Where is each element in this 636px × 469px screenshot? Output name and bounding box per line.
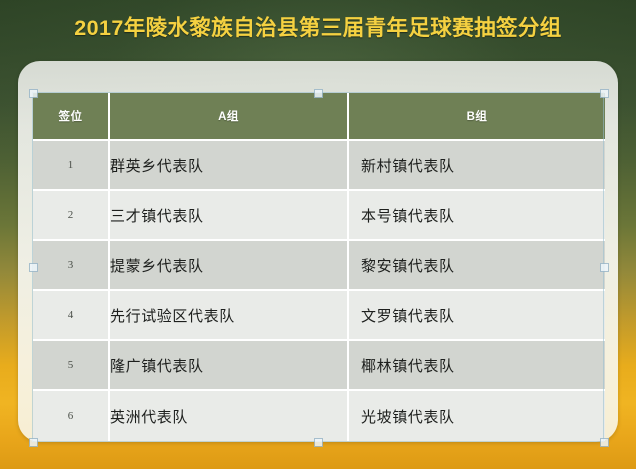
cell-group-b: 文罗镇代表队 (349, 291, 605, 341)
column-header-group-b: B组 (349, 93, 605, 141)
cell-group-a: 英洲代表队 (110, 391, 349, 441)
table-header-row: 签位 A组 B组 (33, 93, 605, 141)
cell-seat: 5 (33, 341, 110, 391)
slide-title-bar: 2017年陵水黎族自治县第三届青年足球赛抽签分组 (0, 11, 636, 42)
cell-group-b: 光坡镇代表队 (349, 391, 605, 441)
table-header: 签位 A组 B组 (33, 93, 605, 141)
cell-group-a: 三才镇代表队 (110, 191, 349, 241)
table-row[interactable]: 2 三才镇代表队 本号镇代表队 (33, 191, 605, 241)
cell-seat: 6 (33, 391, 110, 441)
column-header-group-a: A组 (110, 93, 349, 141)
cell-group-a: 提蒙乡代表队 (110, 241, 349, 291)
table-row[interactable]: 3 提蒙乡代表队 黎安镇代表队 (33, 241, 605, 291)
draw-grouping-table: 签位 A组 B组 1 群英乡代表队 新村镇代表队 2 三才镇代表队 本号镇代表队… (33, 93, 605, 441)
cell-seat: 4 (33, 291, 110, 341)
cell-group-b: 黎安镇代表队 (349, 241, 605, 291)
page-title: 2017年陵水黎族自治县第三届青年足球赛抽签分组 (74, 11, 561, 42)
table-row[interactable]: 5 隆广镇代表队 椰林镇代表队 (33, 341, 605, 391)
draw-grouping-table-container[interactable]: 签位 A组 B组 1 群英乡代表队 新村镇代表队 2 三才镇代表队 本号镇代表队… (33, 93, 603, 441)
cell-seat: 2 (33, 191, 110, 241)
presentation-slide: 2017年陵水黎族自治县第三届青年足球赛抽签分组 签位 A组 B组 1 群英乡代… (0, 0, 636, 469)
column-header-seat: 签位 (33, 93, 110, 141)
cell-group-a: 先行试验区代表队 (110, 291, 349, 341)
cell-seat: 1 (33, 141, 110, 191)
cell-group-a: 群英乡代表队 (110, 141, 349, 191)
cell-group-b: 本号镇代表队 (349, 191, 605, 241)
table-row[interactable]: 1 群英乡代表队 新村镇代表队 (33, 141, 605, 191)
cell-group-b: 新村镇代表队 (349, 141, 605, 191)
cell-group-b: 椰林镇代表队 (349, 341, 605, 391)
cell-seat: 3 (33, 241, 110, 291)
table-row[interactable]: 4 先行试验区代表队 文罗镇代表队 (33, 291, 605, 341)
cell-group-a: 隆广镇代表队 (110, 341, 349, 391)
table-row[interactable]: 6 英洲代表队 光坡镇代表队 (33, 391, 605, 441)
table-body: 1 群英乡代表队 新村镇代表队 2 三才镇代表队 本号镇代表队 3 提蒙乡代表队… (33, 141, 605, 441)
